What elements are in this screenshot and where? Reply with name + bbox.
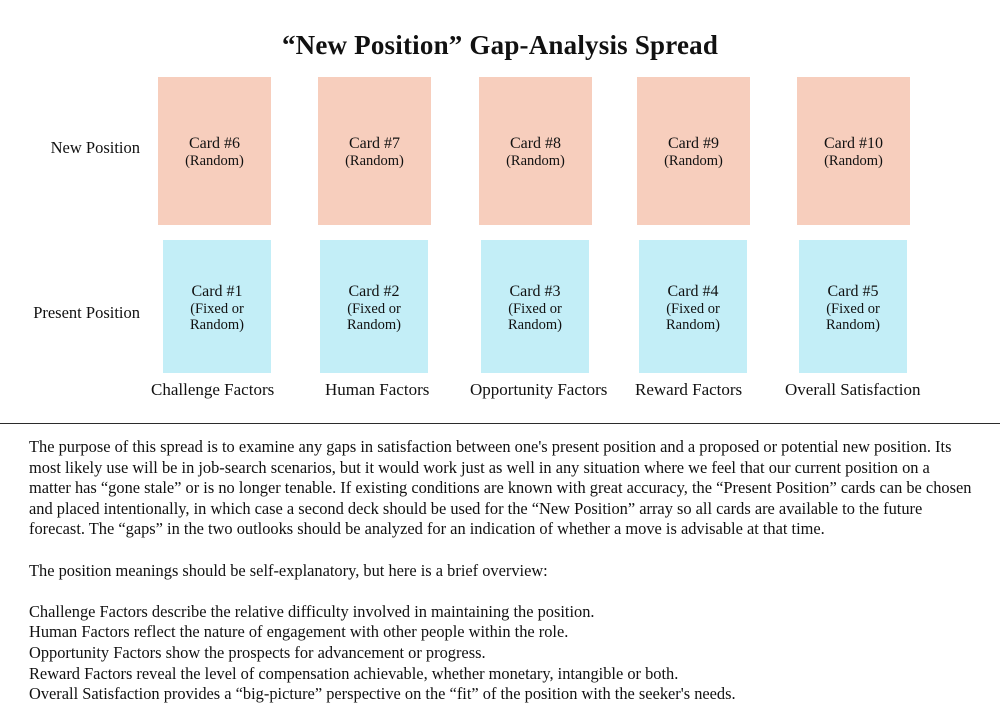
meaning-reward-factors: Reward Factors reveal the level of compe… [29, 664, 973, 685]
column-label-opportunity-factors: Opportunity Factors [470, 380, 607, 400]
column-label-reward-factors: Reward Factors [635, 380, 742, 400]
meaning-opportunity-factors: Opportunity Factors show the prospects f… [29, 643, 973, 664]
row-label-new-position: New Position [15, 138, 140, 158]
card-mode: (Random) [824, 153, 883, 169]
card-mode-line-1: (Fixed or [826, 301, 880, 317]
meaning-human-factors: Human Factors reflect the nature of enga… [29, 622, 973, 643]
card-present-position-4[interactable]: Card #4 (Fixed or Random) [639, 240, 747, 373]
card-new-position-10[interactable]: Card #10 (Random) [797, 77, 910, 225]
card-mode-line-2: Random) [190, 317, 244, 333]
card-mode: (Random) [506, 153, 565, 169]
card-label: Card #6 [189, 135, 240, 153]
paragraph-purpose: The purpose of this spread is to examine… [29, 437, 973, 540]
page-title: “New Position” Gap-Analysis Spread [0, 30, 1000, 61]
card-label: Card #9 [668, 135, 719, 153]
card-label: Card #10 [824, 135, 883, 153]
column-label-human-factors: Human Factors [325, 380, 429, 400]
meaning-challenge-factors: Challenge Factors describe the relative … [29, 602, 973, 623]
card-label: Card #8 [510, 135, 561, 153]
card-label: Card #1 [191, 283, 242, 301]
column-label-overall-satisfaction: Overall Satisfaction [785, 380, 921, 400]
card-mode: (Random) [185, 153, 244, 169]
card-mode: (Random) [345, 153, 404, 169]
paragraph-spacer [29, 581, 973, 602]
card-present-position-3[interactable]: Card #3 (Fixed or Random) [481, 240, 589, 373]
column-label-challenge-factors: Challenge Factors [151, 380, 274, 400]
card-mode-line-1: (Fixed or [347, 301, 401, 317]
explanatory-text: The purpose of this spread is to examine… [29, 437, 973, 705]
card-new-position-8[interactable]: Card #8 (Random) [479, 77, 592, 225]
card-mode: (Random) [664, 153, 723, 169]
card-mode-line-2: Random) [666, 317, 720, 333]
card-mode-line-2: Random) [826, 317, 880, 333]
card-present-position-1[interactable]: Card #1 (Fixed or Random) [163, 240, 271, 373]
paragraph-spacer [29, 540, 973, 561]
card-label: Card #2 [348, 283, 399, 301]
paragraph-overview-intro: The position meanings should be self-exp… [29, 561, 973, 582]
gap-analysis-spread-diagram: New Position Present Position Card #6 (R… [0, 70, 1000, 410]
card-label: Card #4 [667, 283, 718, 301]
card-new-position-7[interactable]: Card #7 (Random) [318, 77, 431, 225]
card-mode-line-1: (Fixed or [190, 301, 244, 317]
card-present-position-5[interactable]: Card #5 (Fixed or Random) [799, 240, 907, 373]
card-mode-line-2: Random) [508, 317, 562, 333]
card-mode-line-1: (Fixed or [666, 301, 720, 317]
card-label: Card #7 [349, 135, 400, 153]
card-label: Card #5 [827, 283, 878, 301]
card-label: Card #3 [509, 283, 560, 301]
card-present-position-2[interactable]: Card #2 (Fixed or Random) [320, 240, 428, 373]
card-new-position-9[interactable]: Card #9 (Random) [637, 77, 750, 225]
row-label-present-position: Present Position [15, 303, 140, 323]
card-new-position-6[interactable]: Card #6 (Random) [158, 77, 271, 225]
meaning-overall-satisfaction: Overall Satisfaction provides a “big-pic… [29, 684, 973, 705]
card-mode-line-1: (Fixed or [508, 301, 562, 317]
card-mode-line-2: Random) [347, 317, 401, 333]
horizontal-divider [0, 423, 1000, 424]
